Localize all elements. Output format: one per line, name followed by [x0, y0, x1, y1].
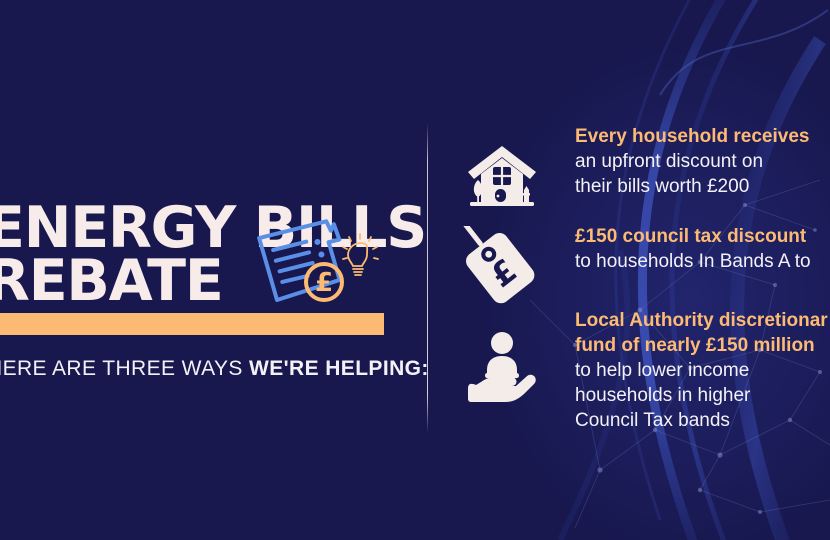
benefit-3-highlight-line-2: fund of nearly £150 million [575, 333, 830, 358]
subtitle: HERE ARE THREE WAYS WE'RE HELPING: [0, 357, 407, 381]
left-column: ENERGY BILLS REBATE HERE ARE THREE WAYS … [0, 0, 400, 540]
orange-underline-bar [0, 313, 384, 335]
hand-holding-person-icon [462, 326, 542, 406]
right-column: Every household receives an upfront disc… [462, 118, 830, 448]
house-icon [462, 136, 542, 216]
benefit-text-1: Every household receives an upfront disc… [575, 124, 830, 199]
infographic-canvas: ENERGY BILLS REBATE HERE ARE THREE WAYS … [0, 0, 830, 540]
benefit-1-highlight: Every household receives [575, 124, 830, 149]
benefit-text-2: £150 council tax discount to households … [575, 224, 830, 274]
benefit-1-line-2: their bills worth £200 [575, 174, 830, 199]
bill-illustration: £ [248, 216, 388, 316]
benefit-2-highlight: £150 council tax discount [575, 224, 830, 249]
benefit-1-line-1: an upfront discount on [575, 149, 830, 174]
pound-symbol: £ [315, 268, 333, 298]
lightbulb-icon [343, 234, 378, 275]
benefit-3-line-3: Council Tax bands [575, 408, 830, 433]
benefit-3-line-1: to help lower income [575, 358, 830, 383]
benefit-2-line-1: to households In Bands A to [575, 249, 830, 274]
benefit-text-3: Local Authority discretionar fund of nea… [575, 308, 830, 433]
benefit-3-highlight-line-1: Local Authority discretionar [575, 308, 830, 333]
bill-document-icon [258, 220, 347, 301]
subtitle-emphasis-text: WE'RE HELPING: [249, 357, 429, 380]
benefit-3-line-2: households in higher [575, 383, 830, 408]
price-tag-icon: £ [462, 226, 542, 306]
subtitle-plain-text: HERE ARE THREE WAYS [0, 357, 249, 380]
vertical-divider [427, 124, 428, 432]
